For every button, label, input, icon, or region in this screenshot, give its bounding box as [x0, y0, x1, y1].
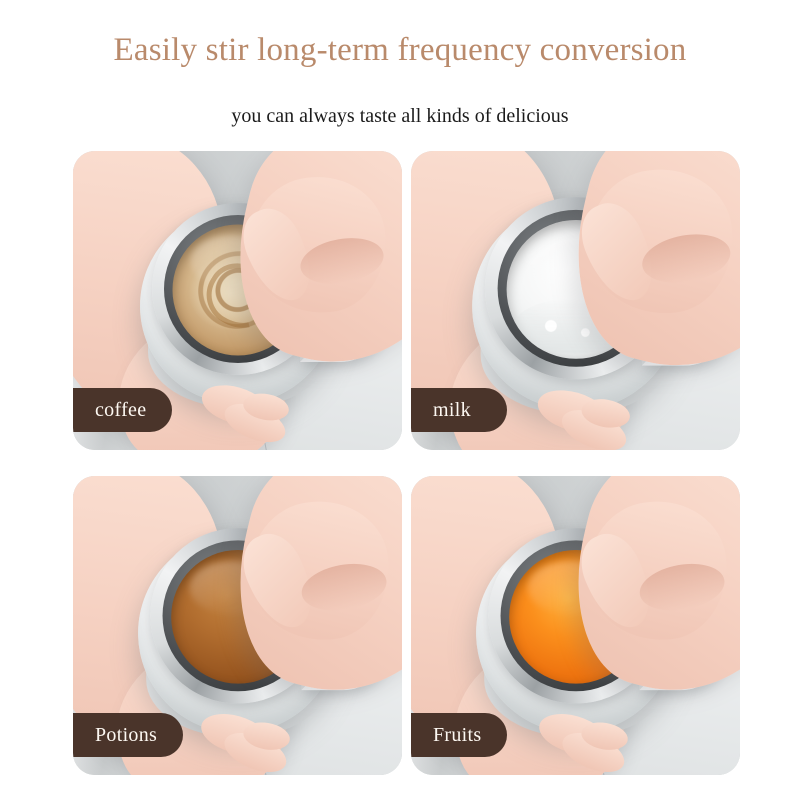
- photo-panel-fruits[interactable]: Fruits: [411, 476, 740, 775]
- badge-potions: Potions: [73, 713, 183, 757]
- photo-panel-coffee[interactable]: coffee: [73, 151, 402, 450]
- page-subtitle: you can always taste all kinds of delici…: [0, 102, 800, 130]
- page-title: Easily stir long-term frequency conversi…: [0, 28, 800, 72]
- badge-milk: milk: [411, 388, 507, 432]
- badge-coffee: coffee: [73, 388, 172, 432]
- photo-panel-milk[interactable]: milk: [411, 151, 740, 450]
- badge-fruits: Fruits: [411, 713, 507, 757]
- product-photo-grid: coffee: [73, 151, 740, 775]
- photo-panel-potions[interactable]: Potions: [73, 476, 402, 775]
- promo-page: Easily stir long-term frequency conversi…: [0, 0, 800, 800]
